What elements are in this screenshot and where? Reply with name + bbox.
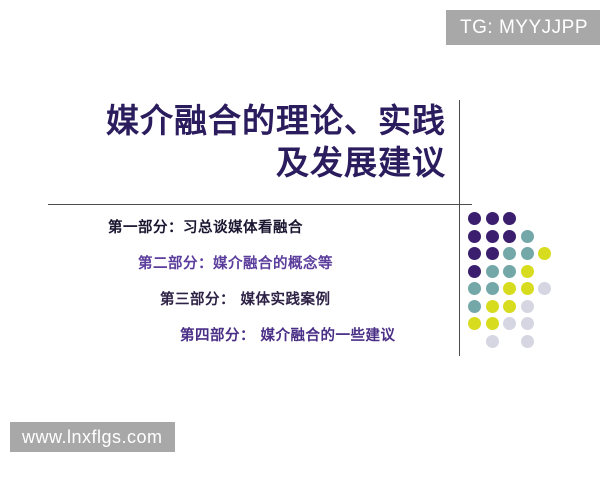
agenda-item-4: 第四部分： 媒介融合的一些建议 bbox=[60, 318, 450, 354]
watermark-bottom-left: www.lnxflgs.com bbox=[10, 422, 175, 452]
grid-dot-gray bbox=[521, 317, 534, 330]
title-line-2: 及发展建议 bbox=[70, 142, 448, 184]
grid-dot-yellow bbox=[503, 282, 516, 295]
grid-dot-teal bbox=[468, 282, 481, 295]
grid-dot-purple bbox=[503, 212, 516, 225]
title-line-1: 媒介融合的理论、实践 bbox=[70, 100, 448, 142]
slide-title: 媒介融合的理论、实践 及发展建议 bbox=[70, 100, 448, 184]
grid-dot-teal bbox=[503, 265, 516, 278]
vertical-divider bbox=[459, 100, 460, 356]
grid-dot-gray bbox=[521, 300, 534, 313]
grid-dot-purple bbox=[468, 265, 481, 278]
grid-dot-teal bbox=[521, 230, 534, 243]
grid-dot-gray bbox=[538, 282, 551, 295]
grid-dot-purple bbox=[468, 247, 481, 260]
decorative-dot-grid bbox=[468, 212, 568, 357]
grid-dot-purple bbox=[486, 212, 499, 225]
agenda-item-4-label: 第四部分： 媒介融合的一些建议 bbox=[60, 318, 396, 354]
grid-dot-yellow bbox=[521, 282, 534, 295]
watermark-top-right: TG: MYYJJPP bbox=[446, 10, 600, 45]
agenda-item-1-label: 第一部分：习总谈媒体看融合 bbox=[60, 210, 303, 246]
grid-dot-yellow bbox=[538, 247, 551, 260]
grid-dot-purple bbox=[468, 212, 481, 225]
agenda-item-1: 第一部分：习总谈媒体看融合 bbox=[60, 210, 450, 246]
slide-canvas: TG: MYYJJPP 媒介融合的理论、实践 及发展建议 第一部分：习总谈媒体看… bbox=[0, 0, 600, 480]
grid-dot-yellow bbox=[521, 265, 534, 278]
agenda-item-2: 第二部分：媒介融合的概念等 bbox=[60, 246, 450, 282]
grid-dot-teal bbox=[486, 282, 499, 295]
grid-dot-teal bbox=[521, 247, 534, 260]
grid-dot-purple bbox=[468, 230, 481, 243]
grid-dot-gray bbox=[521, 335, 534, 348]
grid-dot-yellow bbox=[486, 300, 499, 313]
grid-dot-gray bbox=[503, 317, 516, 330]
grid-dot-teal bbox=[503, 247, 516, 260]
grid-dot-teal bbox=[486, 265, 499, 278]
horizontal-divider bbox=[48, 204, 472, 205]
grid-dot-teal bbox=[468, 300, 481, 313]
grid-dot-yellow bbox=[486, 317, 499, 330]
agenda-item-2-label: 第二部分：媒介融合的概念等 bbox=[60, 246, 333, 282]
grid-dot-purple bbox=[503, 230, 516, 243]
grid-dot-purple bbox=[486, 247, 499, 260]
agenda-list: 第一部分：习总谈媒体看融合 第二部分：媒介融合的概念等 第三部分： 媒体实践案例… bbox=[60, 210, 450, 354]
agenda-item-3: 第三部分： 媒体实践案例 bbox=[60, 282, 450, 318]
grid-dot-yellow bbox=[468, 317, 481, 330]
agenda-item-3-label: 第三部分： 媒体实践案例 bbox=[60, 282, 331, 318]
grid-dot-purple bbox=[486, 230, 499, 243]
grid-dot-yellow bbox=[503, 300, 516, 313]
grid-dot-gray bbox=[486, 335, 499, 348]
